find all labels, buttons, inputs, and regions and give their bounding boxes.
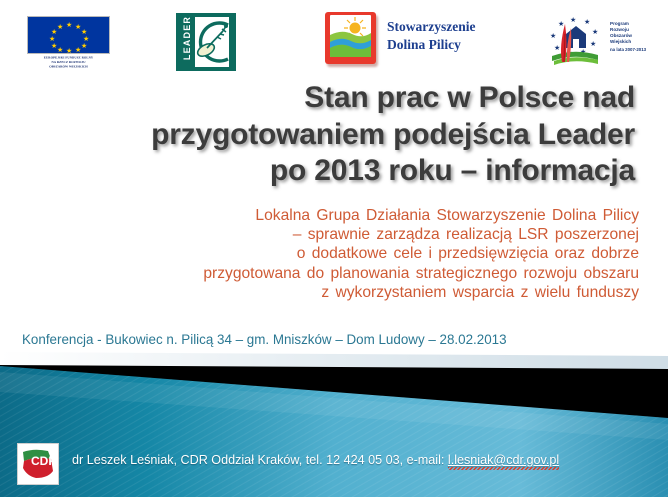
svg-text:★: ★ (550, 32, 556, 40)
slide-title-line-2: przygotowaniem podejścia Leader (35, 117, 635, 154)
eu-flag-icon: ★ ★ ★ ★ ★ ★ ★ ★ ★ ★ ★ ★ (27, 16, 110, 54)
cdr-wordmark: CDR (31, 454, 57, 468)
svg-text:★: ★ (590, 40, 596, 48)
svg-text:★: ★ (558, 20, 564, 28)
european-union-flag-logo: ★ ★ ★ ★ ★ ★ ★ ★ ★ ★ ★ ★ EUROPEJSKI FUNDU… (27, 16, 110, 68)
prow-emblem-icon: ★★★ ★★★ ★★★ (540, 12, 608, 67)
footer-author: dr Leszek Leśniak, CDR Oddział Kraków, t… (72, 453, 448, 467)
leader-wordmark: LEADER (182, 15, 192, 61)
dolina-pilicy-wordmark: Stowarzyszenie Dolina Pilicy (387, 18, 475, 54)
logo-strip: ★ ★ ★ ★ ★ ★ ★ ★ ★ ★ ★ ★ EUROPEJSKI FUNDU… (0, 0, 668, 78)
prow-caption: Program Rozwoju Obszarów Wiejskich na la… (610, 21, 656, 53)
slide-title-line-1: Stan prac w Polsce nad (35, 80, 635, 117)
lead-line-1: Lokalna Grupa Działania Stowarzyszenie D… (19, 206, 639, 225)
lead-line-4: przygotowana do planowania strategiczneg… (19, 264, 639, 283)
leader-emblem-icon: LEADER (176, 13, 236, 71)
leader-logo: LEADER (176, 13, 236, 71)
lead-line-2: – sprawnie zarządza realizacją LSR posze… (19, 225, 639, 244)
svg-text:★: ★ (592, 28, 598, 36)
svg-text:★: ★ (584, 18, 590, 26)
slide-title: Stan prac w Polsce nad przygotowaniem po… (35, 80, 635, 190)
svg-text:★: ★ (554, 44, 560, 52)
conference-details: Konferencja - Bukowiec n. Pilicą 34 – gm… (22, 331, 507, 349)
slide-footer: CDR dr Leszek Leśniak, CDR Oddział Krakó… (0, 432, 668, 497)
footer-email-link[interactable]: l.lesniak@cdr.gov.pl (448, 453, 559, 467)
program-rozwoju-obszarow-wiejskich-logo: ★★★ ★★★ ★★★ Program Rozwoju (540, 12, 652, 67)
stowarzyszenie-dolina-pilicy-logo: Stowarzyszenie Dolina Pilicy (325, 10, 525, 68)
lead-line-3: o dodatkowe cele i przedsięwzięcia oraz … (19, 244, 639, 263)
presentation-slide: ★ ★ ★ ★ ★ ★ ★ ★ ★ ★ ★ ★ EUROPEJSKI FUNDU… (0, 0, 668, 497)
cdr-logo: CDR (17, 443, 59, 485)
prow-years: na lata 2007-2013 (610, 47, 656, 53)
svg-text:★: ★ (570, 16, 576, 24)
footer-contact-text: dr Leszek Leśniak, CDR Oddział Kraków, t… (72, 452, 559, 469)
eu-logo-caption: EUROPEJSKI FUNDUSZ ROLNY NA RZECZ ROZWOJ… (27, 55, 110, 69)
slide-title-line-3: po 2013 roku – informacja (35, 153, 635, 190)
dolina-pilicy-landscape-icon (330, 15, 371, 57)
lead-line-5: z wykorzystaniem wsparcia z wielu fundus… (19, 283, 639, 302)
cdr-emblem-icon: CDR (18, 444, 58, 484)
slide-lead-paragraph: Lokalna Grupa Działania Stowarzyszenie D… (19, 206, 639, 302)
